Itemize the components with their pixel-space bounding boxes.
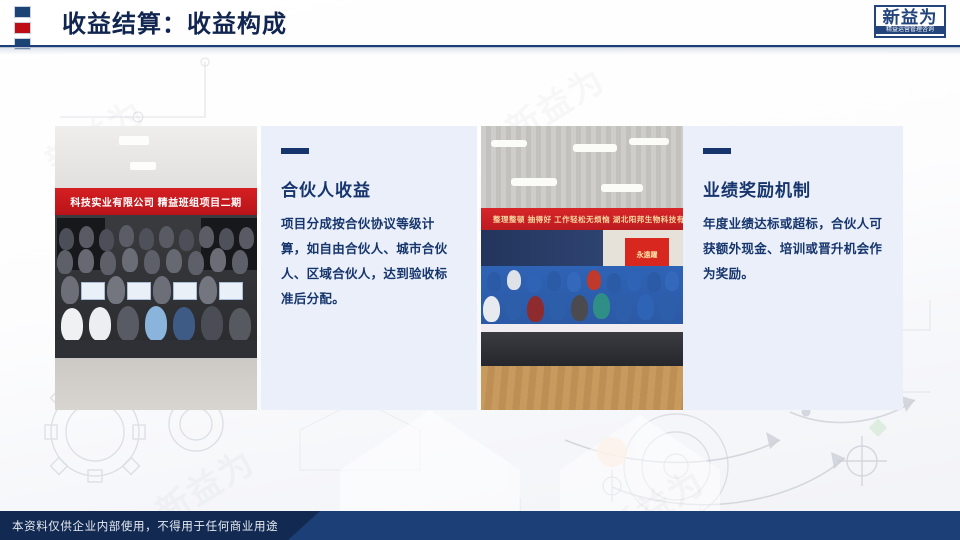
- brand-name: 新益为: [882, 9, 937, 26]
- card-body: 年度业绩达标或超标，合伙人可获额外现金、培训或晋升机会作为奖励。: [703, 212, 883, 287]
- card-accent-bar: [281, 148, 309, 154]
- photo-training-session: 整理整顿 抽得好 工作轻松无烦恼 湖北阳邦生物科技有 永遠躍: [481, 126, 683, 410]
- accent-dot-orange: [597, 437, 627, 467]
- photo2-banner-text: 整理整顿 抽得好 工作轻松无烦恼 湖北阳邦生物科技有: [481, 208, 683, 230]
- content-row: 科技实业有限公司 精益班组项目二期: [55, 126, 911, 410]
- card-body: 项目分成按合伙协议等级计算，如自由合伙人、城市合伙人、区域合伙人，达到验收标准后…: [281, 212, 457, 312]
- header-divider-shadow: [0, 48, 960, 55]
- photo1-chairline: [55, 340, 257, 358]
- photo1-banner-text: 科技实业有限公司 精益班组项目二期: [55, 188, 257, 215]
- accent-dot-middle: [14, 22, 31, 34]
- page-title: 收益结算：收益构成: [62, 4, 287, 39]
- card-title: 业绩奖励机制: [703, 176, 883, 201]
- photo2-floor: [481, 366, 683, 410]
- photo1-lamp: [119, 136, 149, 145]
- photo1-crowd-back: [55, 222, 257, 278]
- photo2-table: [481, 332, 683, 366]
- footer-notice: 本资料仅供企业内部使用，不得用于任何商业用途: [12, 511, 278, 540]
- photo1-lamp: [130, 162, 156, 170]
- accent-dot-top: [14, 6, 31, 18]
- photo1-certificate-row: [55, 274, 257, 308]
- crosshair-icon: [837, 436, 887, 486]
- info-card-performance-bonus: 业绩奖励机制 年度业绩达标或超标，合伙人可获额外现金、培训或晋升机会作为奖励。: [683, 126, 903, 410]
- photo-group-ceremony: 科技实业有限公司 精益班组项目二期: [55, 126, 257, 410]
- card-accent-bar: [703, 148, 731, 154]
- brand-tagline: 精益运营管理咨询: [876, 26, 944, 34]
- slide-canvas: 新益为 新益为 新益为 新益为 新益为 收益结算：收益构成 新益为 精益运营管理…: [0, 0, 960, 540]
- photo1-ceiling: [55, 126, 257, 188]
- accent-square-green: [869, 419, 887, 437]
- brand-logo: 新益为 精益运营管理咨询: [874, 5, 946, 38]
- slide-header: 收益结算：收益构成 新益为 精益运营管理咨询: [0, 0, 960, 50]
- info-card-partner-income: 合伙人收益 项目分成按合伙协议等级计算，如自由合伙人、城市合伙人、区域合伙人，达…: [261, 126, 477, 410]
- slide-footer: 本资料仅供企业内部使用，不得用于任何商业用途: [0, 511, 960, 540]
- card-title: 合伙人收益: [281, 176, 457, 201]
